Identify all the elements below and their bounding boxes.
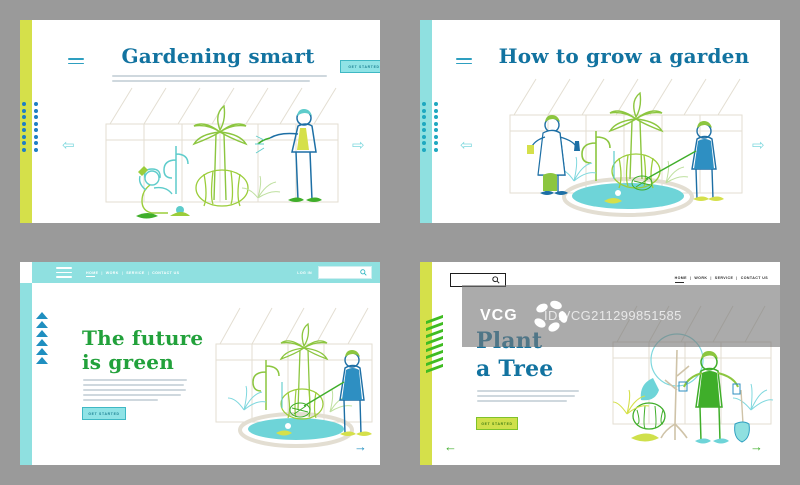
body-text <box>83 379 187 404</box>
watermark-overlay: VCG ID:VCG211299851585 <box>462 285 780 347</box>
navbar: HOME | WORK | SERVICE | CONTACT US LOG I… <box>32 262 380 283</box>
nav-item-home[interactable]: HOME <box>675 276 687 280</box>
decor-dots <box>22 102 41 152</box>
nav-separator: | <box>148 271 149 275</box>
vcg-logo-text: VCG <box>480 307 518 325</box>
illustration-sheet: Gardening smart GET STARTED ⇦ ⇨ <box>0 0 800 485</box>
accent-bar <box>20 283 32 465</box>
illustration-how-to-grow-a-garden <box>496 75 756 220</box>
nav-separator: | <box>690 276 691 280</box>
nav-item-contact-us[interactable]: CONTACT US <box>741 276 768 280</box>
prev-arrow-icon[interactable]: ⇦ <box>460 138 473 153</box>
decor-stripes <box>426 318 443 370</box>
nav-separator: | <box>101 271 102 275</box>
panel-gardening-smart: Gardening smart GET STARTED ⇦ ⇨ <box>20 20 380 223</box>
watermark-id-text: ID:VCG211299851585 <box>544 308 682 323</box>
nav-item-service[interactable]: SERVICE <box>126 271 145 275</box>
next-arrow-icon[interactable]: ⇨ <box>352 138 365 153</box>
decor-chevrons <box>36 312 48 364</box>
login-link[interactable]: LOG IN <box>297 271 312 275</box>
illustration-gardening-smart <box>92 82 352 222</box>
panel-how-to-grow-a-garden: How to grow a garden ⇦ ⇨ <box>420 20 780 223</box>
hamburger-icon[interactable] <box>56 267 72 278</box>
nav-separator: | <box>736 276 737 280</box>
page-title-line-2: a Tree <box>476 358 626 381</box>
nav-separator: | <box>122 271 123 275</box>
get-started-button[interactable]: GET STARTED <box>340 60 380 73</box>
get-started-button[interactable]: GET STARTED <box>82 407 126 420</box>
hamburger-icon[interactable] <box>456 58 472 64</box>
nav-links: HOME | WORK | SERVICE | CONTACT US <box>86 271 179 275</box>
panel-plant-a-tree: HOME | WORK | SERVICE | CONTACT US Plant… <box>420 262 780 465</box>
nav-item-work[interactable]: WORK <box>106 271 119 275</box>
body-text <box>477 390 579 405</box>
page-title: How to grow a garden <box>484 46 764 67</box>
nav-item-contact-us[interactable]: CONTACT US <box>152 271 179 275</box>
nav-item-service[interactable]: SERVICE <box>715 276 734 280</box>
illustration-the-future-is-green <box>208 302 380 462</box>
nav-item-work[interactable]: WORK <box>694 276 707 280</box>
search-icon[interactable] <box>492 276 500 284</box>
nav-item-home[interactable]: HOME <box>86 271 98 275</box>
hamburger-icon[interactable] <box>68 58 84 64</box>
search-icon[interactable] <box>360 269 367 276</box>
page-title: Gardening smart <box>108 46 328 67</box>
nav-links: HOME | WORK | SERVICE | CONTACT US <box>675 276 768 280</box>
nav-separator: | <box>710 276 711 280</box>
search-input[interactable] <box>318 266 372 279</box>
prev-arrow-icon[interactable]: ← <box>444 440 457 453</box>
prev-arrow-icon[interactable]: ⇦ <box>62 138 75 153</box>
decor-dots <box>422 102 441 152</box>
panel-the-future-is-green: HOME | WORK | SERVICE | CONTACT US LOG I… <box>20 262 380 465</box>
get-started-button[interactable]: GET STARTED <box>476 417 518 430</box>
